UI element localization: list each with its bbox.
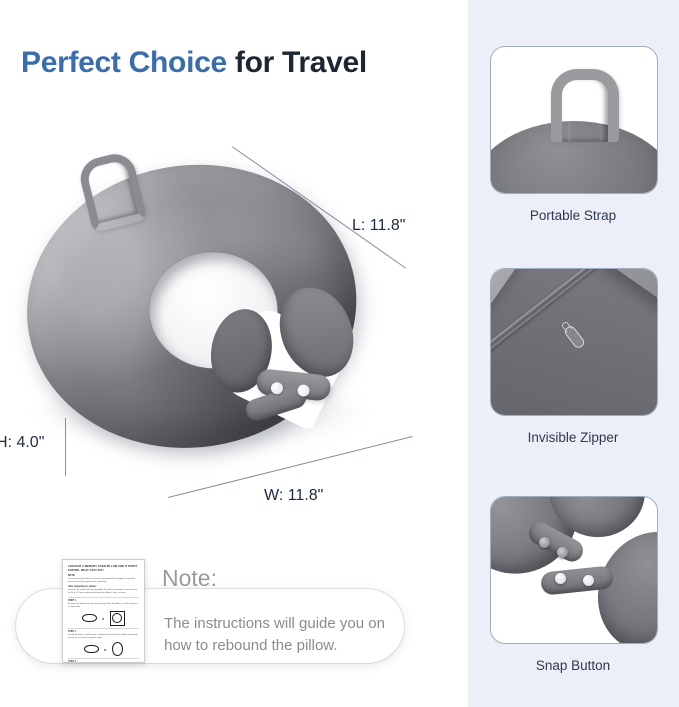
instruction-block-title: STEP 2 — [68, 631, 139, 633]
instruction-block-text: Knead the pillow in both hands, compress… — [68, 634, 139, 640]
instruction-diagram-row: ▸ — [68, 642, 139, 656]
feature-sidebar: Portable Strap Invisible Zipper Snap But… — [468, 0, 679, 707]
expanded-pillow-box-icon — [110, 611, 125, 626]
instruction-block-title: STEP 3 — [68, 661, 139, 663]
instruction-diagram-row: ▸ — [68, 611, 139, 626]
arrow-right-icon: ▸ — [104, 647, 106, 652]
snap-button-icon — [557, 547, 568, 558]
dimension-label-length: L: 11.8" — [352, 217, 405, 235]
snap-button-icon — [539, 537, 550, 548]
instruction-block-title: NOTE: — [68, 575, 139, 577]
dimension-label-width: W: 11.8" — [264, 487, 323, 505]
instruction-block-text: Remove the pillow from the bag. Allow th… — [68, 589, 139, 595]
instruction-sheet-thumbnail: I BOUGHT A MEMORY FOAM PILLOW AND IT DID… — [62, 559, 145, 663]
note-body-text: The instructions will guide you on how t… — [164, 613, 408, 657]
feature-caption: Invisible Zipper — [490, 430, 656, 445]
snap-button-icon — [583, 575, 594, 586]
feature-caption: Snap Button — [490, 658, 656, 673]
instruction-block-text: The memory foam pillow is vacuum compres… — [68, 578, 139, 584]
compressed-pillow-icon — [82, 614, 97, 622]
arrow-right-icon: ▸ — [102, 616, 104, 621]
feature-snap-button[interactable]: Snap Button — [490, 496, 656, 673]
feature-caption: Portable Strap — [490, 208, 656, 223]
feature-portable-strap[interactable]: Portable Strap — [490, 46, 656, 223]
snap-button-icon — [555, 573, 566, 584]
feature-image-card — [490, 496, 658, 644]
divider — [68, 658, 139, 659]
page-title-accent: Perfect Choice — [21, 46, 227, 79]
dimension-label-height: H: 4.0" — [0, 434, 44, 452]
portable-strap-loop-icon — [551, 69, 619, 142]
divider — [68, 628, 139, 629]
feature-image-card — [490, 268, 658, 416]
kneading-pillow-icon — [84, 645, 99, 653]
note-heading: Note: — [162, 565, 217, 592]
instruction-block-title: STEP 1 — [68, 600, 139, 602]
main-content-panel: Perfect Choice for Travel L: 11.8" W: 11… — [0, 0, 468, 707]
dimension-leader-line-height — [65, 418, 66, 476]
feature-invisible-zipper[interactable]: Invisible Zipper — [490, 268, 656, 445]
instruction-sheet-headline: I BOUGHT A MEMORY FOAM PILLOW AND IT DID… — [68, 565, 139, 573]
page-title-rest: for Travel — [227, 46, 367, 79]
instruction-block-title: After unpacking it, please: — [68, 586, 139, 588]
rebounded-pillow-icon — [112, 642, 123, 656]
page-title: Perfect Choice for Travel — [21, 46, 367, 80]
divider — [68, 597, 139, 598]
instruction-block-text: Remove the pillow from the vacuum bag. P… — [68, 603, 139, 609]
hero-product-image — [8, 135, 408, 465]
feature-image-card — [490, 46, 658, 194]
